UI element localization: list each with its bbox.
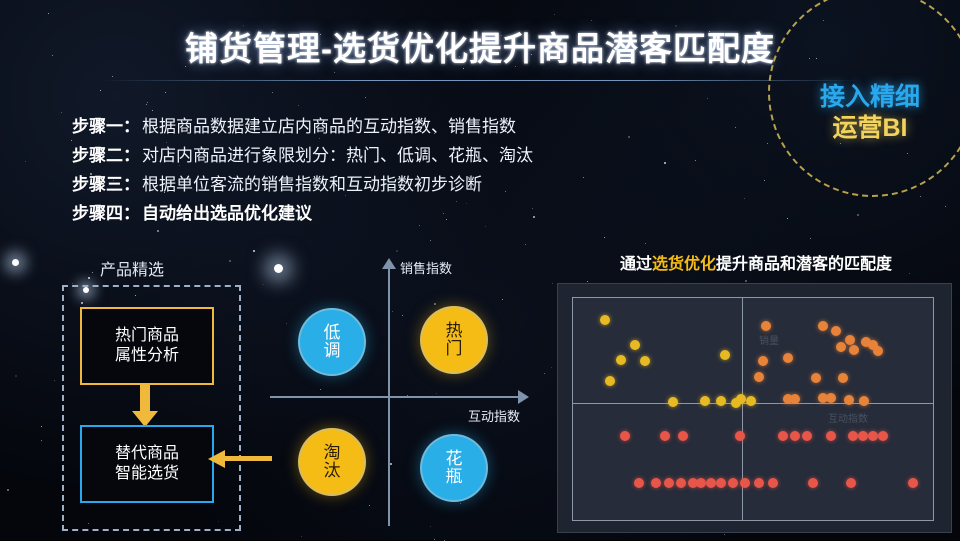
- scatter-point: [778, 431, 788, 441]
- steps-list: 步骤一： 根据商品数据建立店内商品的互动指数、销售指数 步骤二： 对店内商品进行…: [72, 112, 692, 228]
- scatter-point: [802, 431, 812, 441]
- step-value: 自动给出选品优化建议: [142, 199, 312, 224]
- scatter-title-suffix: 提升商品和潜客的匹配度: [716, 256, 892, 273]
- scatter-point: [768, 478, 778, 488]
- flow-box-alt-line-2: 智能选货: [115, 464, 179, 484]
- scatter-title-highlight: 选货优化: [652, 256, 716, 273]
- scatter-point: [716, 396, 726, 406]
- step-item-1: 步骤一： 根据商品数据建立店内商品的互动指数、销售指数: [72, 112, 692, 137]
- quadrant-bubble-eliminate[interactable]: 淘 汰: [300, 430, 364, 494]
- step-key: 步骤四：: [72, 199, 140, 224]
- scatter-point: [668, 397, 678, 407]
- scatter-y-axis-label: 销量: [759, 332, 779, 347]
- quadrant-out-arrow-head-icon: [208, 450, 225, 468]
- bubble-line-2: 汰: [324, 461, 341, 480]
- step-key: 步骤二：: [72, 141, 140, 166]
- scatter-point: [818, 321, 828, 331]
- scatter-point: [630, 340, 640, 350]
- scatter-panel-title: 通过选货优化提升商品和潜客的匹配度: [560, 250, 952, 274]
- scatter-point: [908, 478, 918, 488]
- scatter-point: [740, 478, 750, 488]
- step-key: 步骤三：: [72, 170, 140, 195]
- scatter-point: [838, 373, 848, 383]
- scatter-point: [783, 353, 793, 363]
- scatter-point: [664, 478, 674, 488]
- scatter-point: [640, 356, 650, 366]
- scatter-point: [758, 356, 768, 366]
- scatter-point: [720, 350, 730, 360]
- scatter-chart-card: 销量 互动指数: [557, 283, 952, 533]
- flow-box-alt-line-1: 替代商品: [115, 444, 179, 464]
- scatter-point: [849, 345, 859, 355]
- quadrant-chart: 销售指数 互动指数 低 调 热 门 淘 汰 花 瓶: [270, 258, 540, 530]
- scatter-point: [676, 478, 686, 488]
- quadrant-bubble-hot[interactable]: 热 门: [422, 308, 486, 372]
- scatter-point: [826, 431, 836, 441]
- scatter-point: [859, 396, 869, 406]
- scatter-point: [660, 431, 670, 441]
- flow-panel: 热门商品 属性分析 替代商品 智能选货: [62, 285, 241, 531]
- step-item-4: 步骤四： 自动给出选品优化建议: [72, 199, 692, 224]
- scatter-point: [754, 372, 764, 382]
- scatter-title-prefix: 通过: [620, 256, 652, 273]
- scatter-point: [706, 478, 716, 488]
- scatter-point: [600, 315, 610, 325]
- step-value: 对店内商品进行象限划分：热门、低调、花瓶、淘汰: [142, 141, 533, 166]
- badge-line-1: 接入精细: [770, 82, 960, 113]
- bubble-line-2: 调: [324, 341, 341, 360]
- scatter-point: [790, 431, 800, 441]
- bubble-line-2: 门: [446, 339, 463, 358]
- scatter-point: [868, 340, 878, 350]
- scatter-point: [846, 478, 856, 488]
- scatter-point: [826, 393, 836, 403]
- quadrant-x-axis-arrow-icon: [518, 390, 529, 404]
- flow-box-hot-product: 热门商品 属性分析: [80, 307, 214, 385]
- bubble-line-1: 低: [324, 323, 341, 342]
- quadrant-bubble-vase[interactable]: 花 瓶: [422, 436, 486, 500]
- title-divider: [100, 80, 860, 81]
- scatter-point: [634, 478, 644, 488]
- bubble-line-2: 瓶: [446, 467, 463, 486]
- scatter-point: [700, 396, 710, 406]
- flow-box-hot-line-1: 热门商品: [115, 326, 179, 346]
- scatter-point: [728, 478, 738, 488]
- scatter-plot-area: 销量 互动指数: [572, 297, 934, 521]
- scatter-point: [761, 321, 771, 331]
- scatter-point: [620, 431, 630, 441]
- badge: 接入精细 运营BI: [770, 82, 960, 145]
- flow-box-hot-line-2: 属性分析: [115, 346, 179, 366]
- scatter-point: [696, 478, 706, 488]
- scatter-point: [735, 431, 745, 441]
- scatter-point: [811, 373, 821, 383]
- quadrant-bubble-low-key[interactable]: 低 调: [300, 310, 364, 374]
- scatter-point: [731, 398, 741, 408]
- scatter-point: [878, 431, 888, 441]
- step-item-2: 步骤二： 对店内商品进行象限划分：热门、低调、花瓶、淘汰: [72, 141, 692, 166]
- flow-panel-label: 产品精选: [100, 256, 164, 280]
- scatter-x-axis-label: 互动指数: [828, 410, 868, 425]
- flow-arrow-shaft: [140, 383, 150, 413]
- scatter-point: [831, 326, 841, 336]
- scatter-point: [616, 355, 626, 365]
- scatter-point: [678, 431, 688, 441]
- scatter-point: [845, 335, 855, 345]
- scatter-point: [790, 394, 800, 404]
- flow-box-alt-product: 替代商品 智能选货: [80, 425, 214, 503]
- quadrant-x-axis: [270, 396, 520, 398]
- step-value: 根据单位客流的销售指数和互动指数初步诊断: [142, 170, 482, 195]
- quadrant-x-axis-label: 互动指数: [468, 406, 520, 425]
- bubble-line-1: 淘: [324, 443, 341, 462]
- quadrant-y-axis-arrow-icon: [382, 258, 396, 269]
- scatter-point: [848, 431, 858, 441]
- scatter-point: [868, 431, 878, 441]
- badge-line-2: 运营BI: [770, 113, 960, 144]
- scatter-point: [746, 396, 756, 406]
- step-item-3: 步骤三： 根据单位客流的销售指数和互动指数初步诊断: [72, 170, 692, 195]
- scatter-point: [754, 478, 764, 488]
- step-value: 根据商品数据建立店内商品的互动指数、销售指数: [142, 112, 516, 137]
- step-key: 步骤一：: [72, 112, 140, 137]
- scatter-point: [605, 376, 615, 386]
- quadrant-out-arrow-shaft: [224, 456, 272, 461]
- scatter-point: [808, 478, 818, 488]
- scatter-point: [716, 478, 726, 488]
- quadrant-y-axis-label: 销售指数: [400, 258, 452, 277]
- scatter-point: [858, 431, 868, 441]
- scatter-point: [836, 342, 846, 352]
- bubble-line-1: 热: [446, 321, 463, 340]
- bubble-line-1: 花: [446, 449, 463, 468]
- scatter-point: [651, 478, 661, 488]
- scatter-point: [844, 395, 854, 405]
